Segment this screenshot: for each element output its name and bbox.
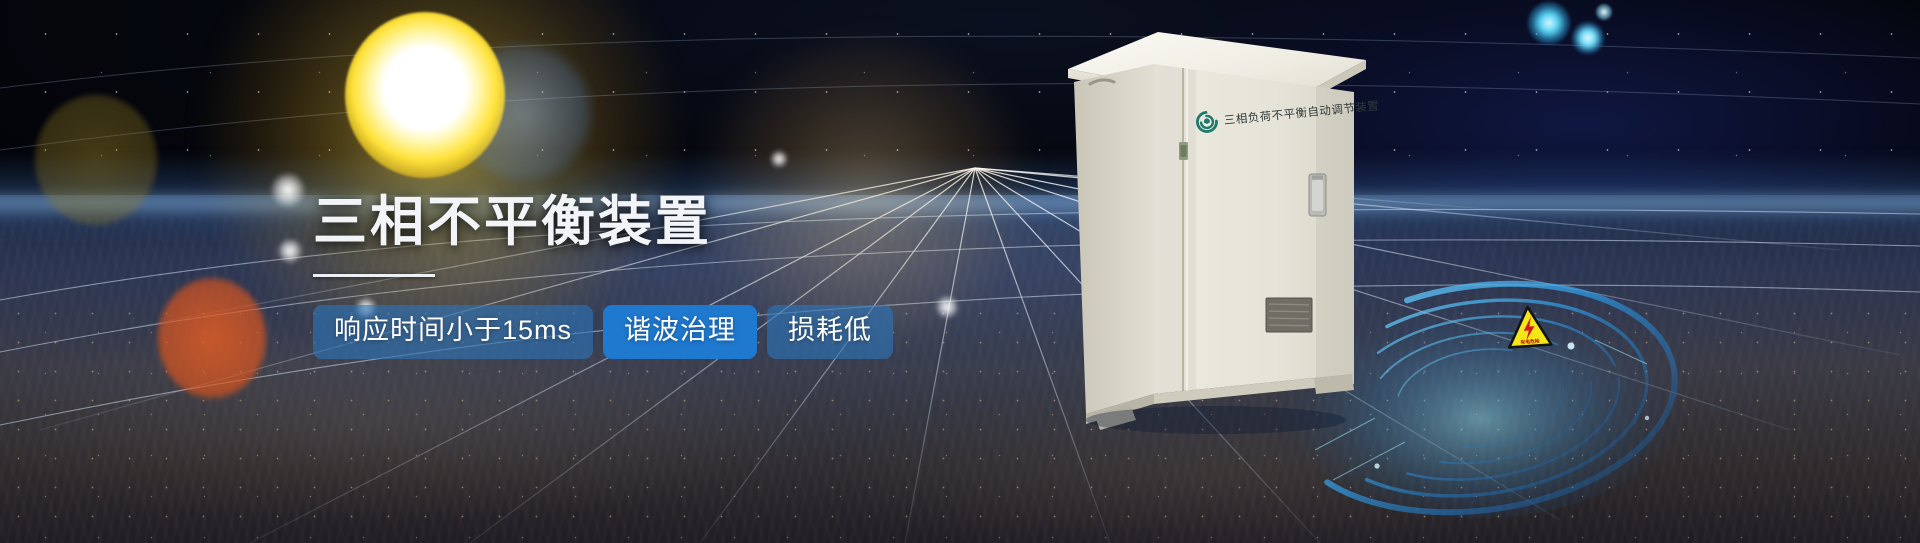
feature-tag-low-loss[interactable]: 损耗低: [767, 305, 893, 358]
cyan-particle-3: [1596, 4, 1612, 20]
feature-tag-list: 响应时间小于15ms 谐波治理 损耗低: [313, 305, 933, 358]
cyan-particle-2: [1572, 22, 1604, 54]
spark-light-5: [770, 150, 788, 168]
hero-banner: 三相负荷不平衡自动调节装置 有电危险 三相不平衡装置 响应时间小于15ms 谐波…: [0, 0, 1920, 543]
title-divider: [313, 274, 435, 277]
spark-light-4: [935, 295, 959, 319]
cyan-particle-1: [1528, 2, 1570, 44]
page-title: 三相不平衡装置: [313, 192, 933, 252]
bokeh-olive: [35, 95, 157, 225]
product-cabinet: [1066, 22, 1376, 422]
spark-light-1: [270, 172, 306, 208]
feature-tag-response-time[interactable]: 响应时间小于15ms: [313, 305, 593, 358]
spark-light-2: [277, 238, 303, 264]
warning-triangle-icon: 有电危险: [1505, 303, 1554, 350]
bokeh-orange: [158, 278, 266, 398]
cabinet-logo-icon: [1195, 110, 1219, 134]
electrical-hazard-sticker: 有电危险: [1505, 303, 1554, 350]
banner-copy: 三相不平衡装置 响应时间小于15ms 谐波治理 损耗低: [313, 192, 933, 359]
feature-tag-harmonic[interactable]: 谐波治理: [603, 305, 757, 358]
bokeh-sun: [345, 12, 505, 178]
